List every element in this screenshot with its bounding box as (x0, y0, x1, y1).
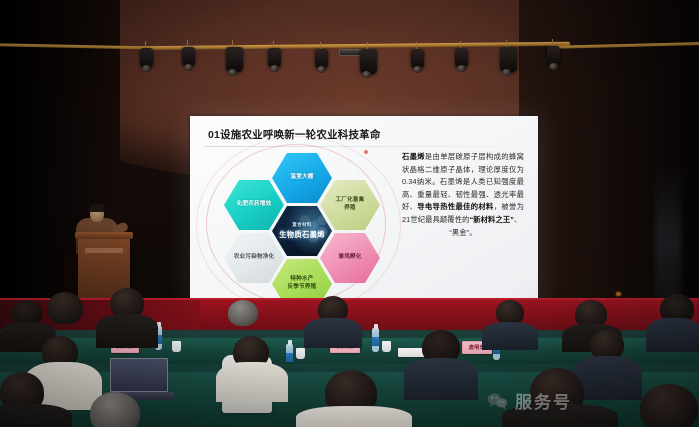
spotlight-icon (268, 48, 281, 68)
lamp-hook (367, 42, 368, 49)
presentation-slide: 01设施农业呼唤新一轮农业科技革命 化肥农药增效 温室大棚 工厂化畜禽 养殖 雏… (190, 116, 538, 309)
hexagon-purification-label: 农业污染物净化 (228, 254, 281, 262)
spotlight-icon (411, 49, 424, 69)
projection-screen: 01设施农业呼唤新一轮农业科技革命 化肥农药增效 温室大棚 工厂化畜禽 养殖 雏… (190, 116, 538, 309)
spotlight-icon (226, 47, 243, 72)
hexagon-greenhouse-label: 温室大棚 (284, 174, 319, 182)
laptop-screen[interactable] (110, 358, 168, 392)
watermark-text: 服务号 (515, 388, 572, 413)
water-bottle (286, 344, 293, 362)
audience-shoulders (482, 322, 538, 350)
lamp-hook (187, 40, 188, 47)
audience-shoulders (304, 318, 362, 348)
hexagon-center-sub: 复合材料 (279, 222, 325, 228)
hexagon-center-title: 生物质石墨烯 (279, 230, 325, 240)
spotlight-icon (182, 47, 195, 67)
paragraph-body-3: 、 (514, 215, 521, 224)
audience-shoulders (296, 406, 412, 427)
hexagon-hatching: 雏鸡孵化 (320, 232, 380, 284)
spotlight-icon (547, 46, 560, 66)
spotlight-icon (500, 47, 517, 72)
hexagon-greenhouse: 温室大棚 (272, 152, 332, 204)
hexagon-aquaculture-label: 特种水产 反季节养殖 (282, 276, 323, 291)
lamp-hook (460, 41, 461, 48)
spotlight-icon (360, 49, 377, 74)
spotlight-icon (140, 48, 153, 68)
lamp-hook (232, 40, 233, 47)
audience-head (640, 384, 698, 427)
audience-shoulders (404, 358, 478, 400)
lamp-hook (320, 42, 321, 49)
hexagon-center: 复合材料 生物质石墨烯 (272, 205, 332, 257)
wechat-icon (487, 392, 509, 410)
paper-cup (296, 348, 305, 359)
paragraph-highlight-1: 导电导热性最佳的材料 (417, 202, 493, 211)
lamp-hook (416, 42, 417, 49)
watermark: 服务号 (487, 388, 572, 413)
lamp-hook (552, 39, 553, 46)
audience-shoulders (216, 362, 288, 402)
paper-cup (382, 341, 391, 352)
hexagon-purification: 农业污染物净化 (224, 232, 284, 284)
paper-cup (172, 341, 181, 352)
audience-shoulders (96, 314, 158, 348)
wall-indicator-light (616, 292, 621, 296)
spotlight-icon (455, 48, 468, 68)
hexagon-livestock-label: 工厂化畜禽 养殖 (330, 197, 371, 212)
lamp-hook (145, 41, 146, 48)
screenshot-root: 01设施农业呼唤新一轮农业科技革命 化肥农药增效 温室大棚 工厂化畜禽 养殖 雏… (0, 0, 699, 427)
speaker-hair (89, 204, 105, 212)
lamp-hook (273, 41, 274, 48)
audience-shoulders (646, 318, 699, 352)
truss-control-box (339, 49, 361, 56)
paragraph-highlight-2: “新材料之王” (470, 215, 514, 224)
water-bottle (372, 328, 379, 352)
hexagon-diagram: 化肥农药增效 温室大棚 工厂化畜禽 养殖 雏鸡孵化 特种水产 反季节养殖 农业污… (220, 154, 405, 304)
podium-nameplate (85, 248, 123, 253)
hexagon-fertilizer-label: 化肥农药增效 (231, 201, 278, 209)
hexagon-hatching-label: 雏鸡孵化 (332, 254, 367, 262)
hexagon-fertilizer: 化肥农药增效 (224, 179, 284, 231)
hexagon-livestock: 工厂化畜禽 养殖 (320, 179, 380, 231)
audience-shoulders (0, 404, 72, 427)
audience-head (90, 392, 140, 427)
podium-top (75, 232, 133, 239)
lamp-hook (506, 40, 507, 47)
spotlight-icon (315, 49, 328, 69)
slide-paragraph: 石墨烯是由单层碳原子层构成的蜂窝状晶格二维原子晶体，理论厚度仅为0.34纳米。石… (402, 151, 524, 240)
paragraph-lead: 石墨烯 (402, 152, 425, 161)
audience-head (47, 292, 83, 324)
paragraph-tail: “黑金”。 (402, 227, 524, 240)
audience-head (228, 300, 258, 326)
